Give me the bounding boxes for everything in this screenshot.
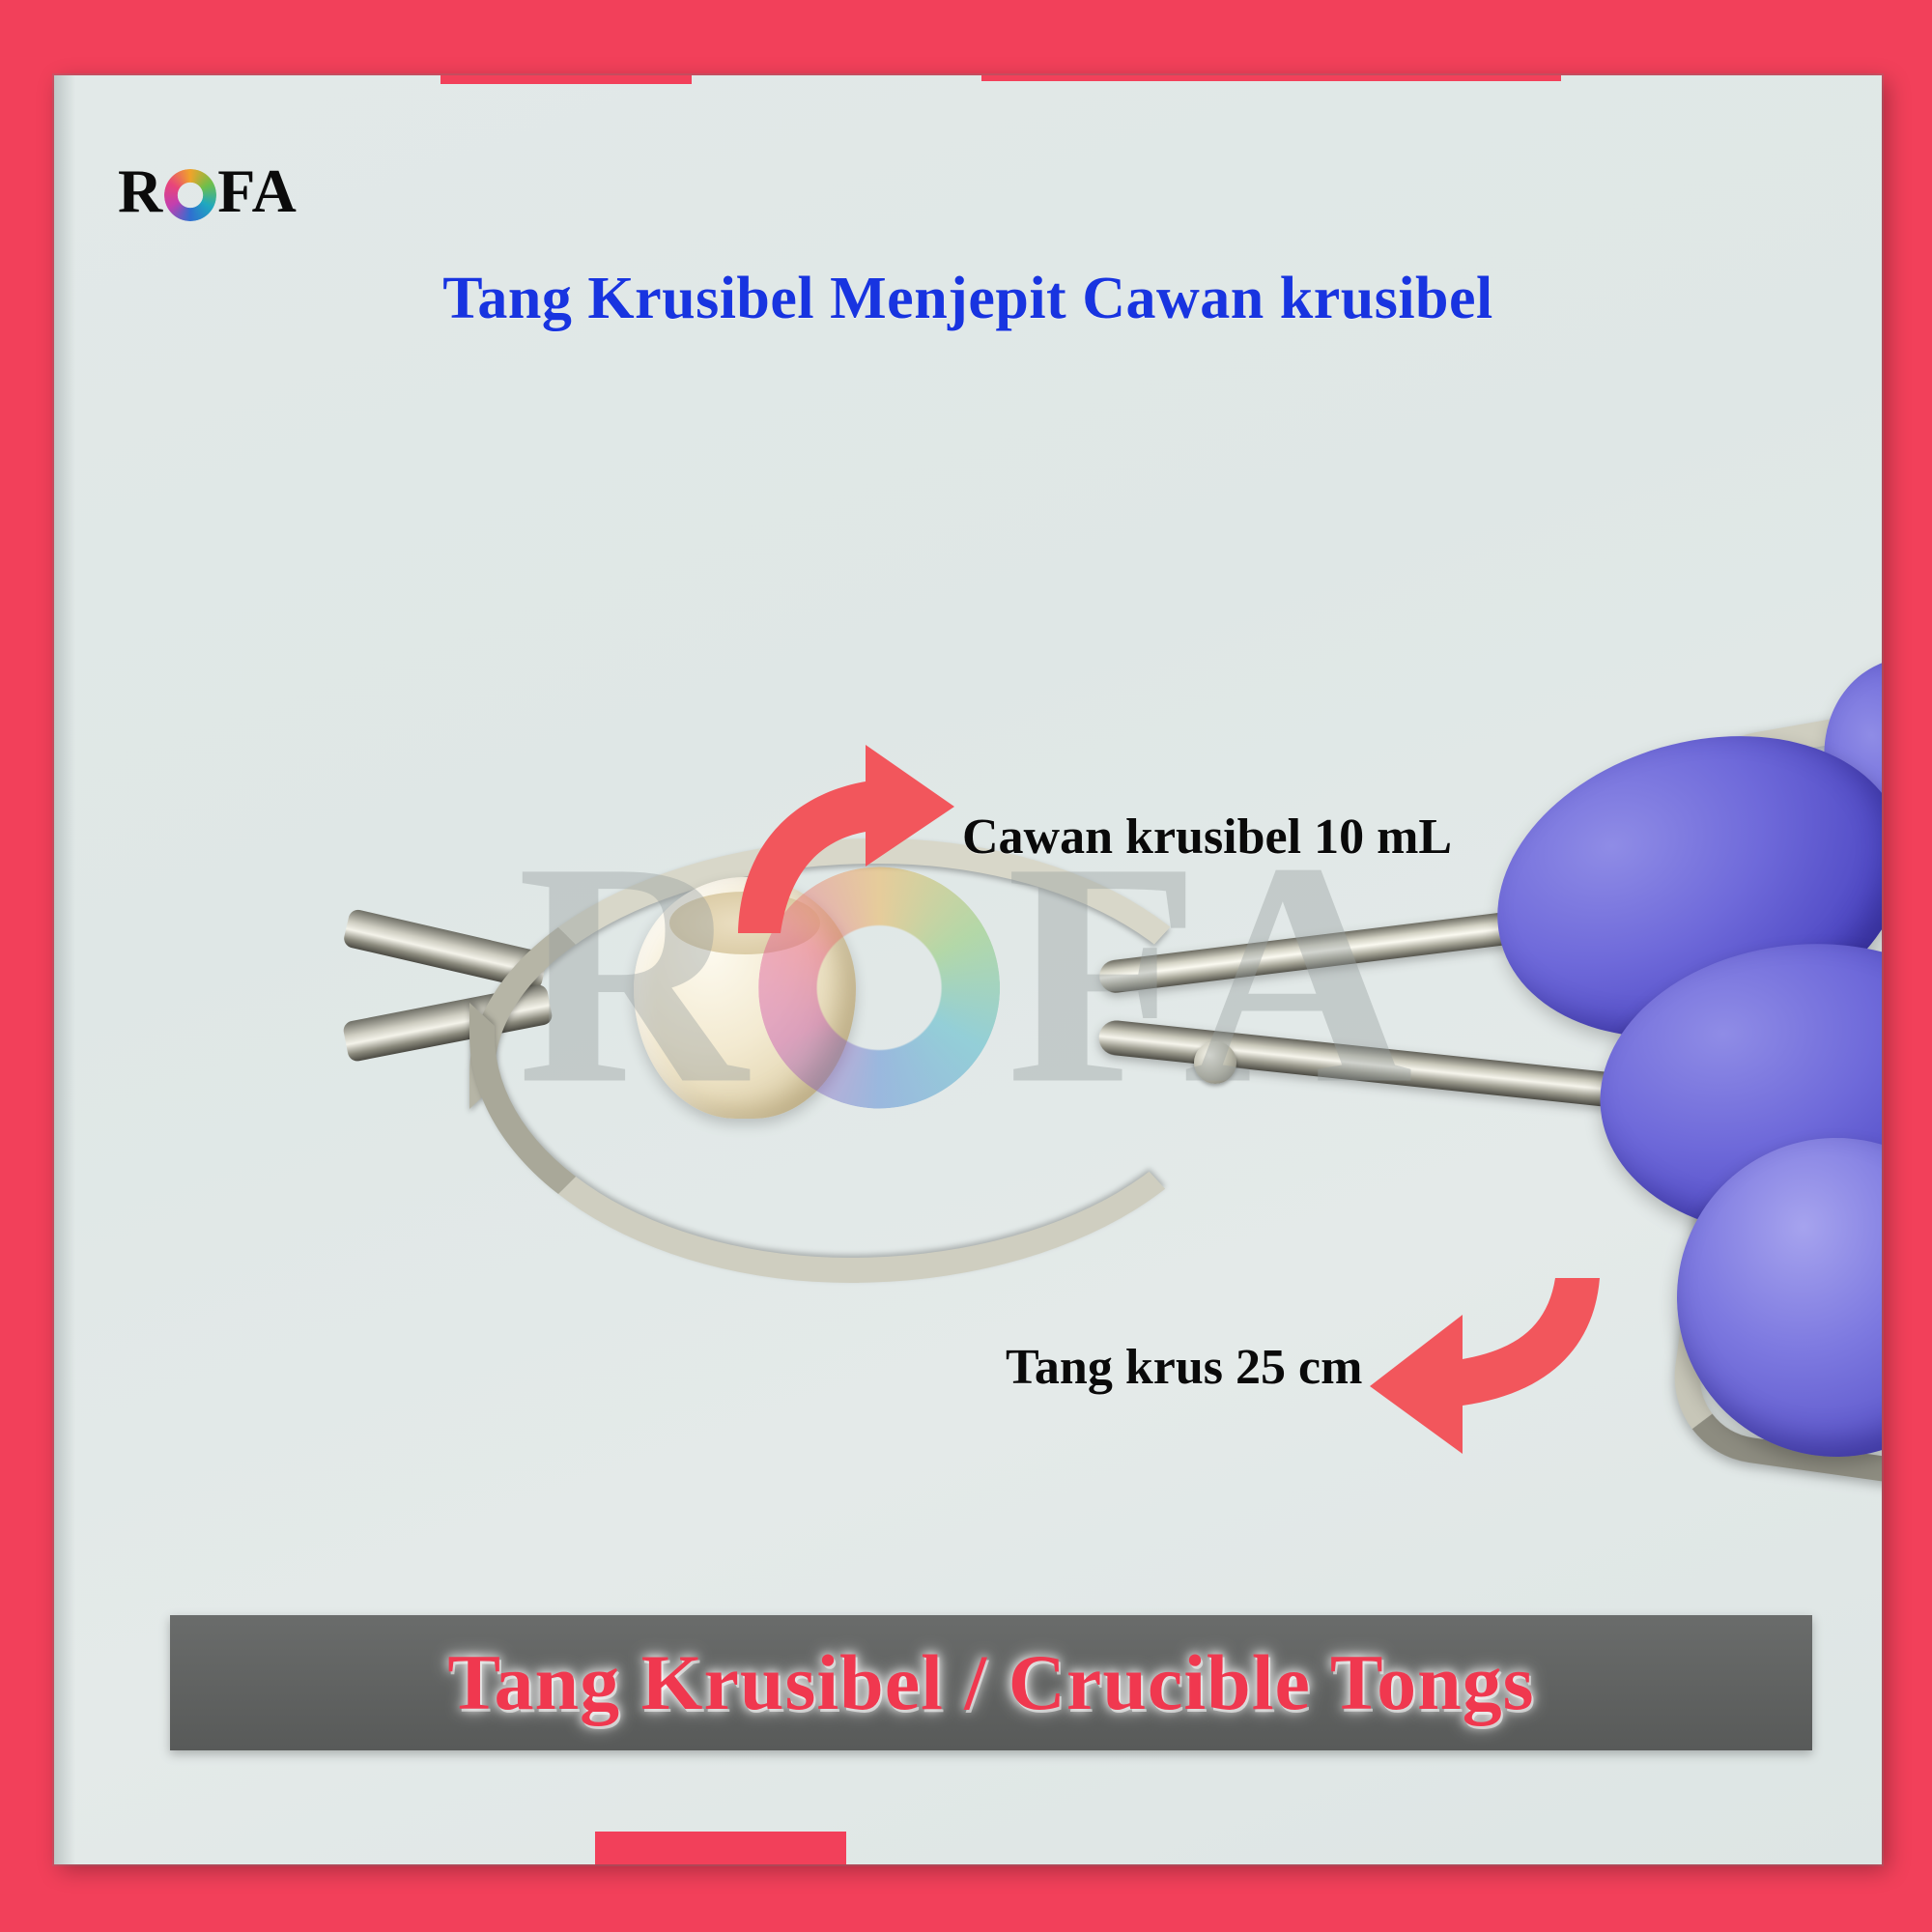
bottom-banner-text: Tang Krusibel / Crucible Tongs	[447, 1637, 1534, 1728]
product-photo	[54, 75, 1882, 1864]
tong-pivot-rivet	[1194, 1041, 1236, 1084]
annotation-crucible-label: Cawan krusibel 10 mL	[962, 809, 1452, 866]
annotation-crucible: Cawan krusibel 10 mL	[721, 735, 1452, 938]
curved-arrow-left-icon	[1362, 1270, 1604, 1463]
annotation-tongs-label: Tang krus 25 cm	[1006, 1339, 1362, 1396]
photo-card: R FA R FA Tang Krusibel Menjepit Cawan k…	[54, 75, 1882, 1864]
page-title: Tang Krusibel Menjepit Cawan krusibel	[54, 265, 1882, 333]
logo-text-after: FA	[217, 160, 298, 222]
rofa-logo: R FA	[118, 160, 298, 222]
curved-arrow-right-icon	[721, 735, 962, 938]
logo-ring-icon	[164, 169, 216, 221]
logo-text-before: R	[118, 160, 163, 222]
annotation-tongs: Tang krus 25 cm	[1006, 1270, 1604, 1463]
bottom-banner: Tang Krusibel / Crucible Tongs	[170, 1615, 1812, 1750]
poster-root: R FA R FA Tang Krusibel Menjepit Cawan k…	[0, 0, 1932, 1932]
